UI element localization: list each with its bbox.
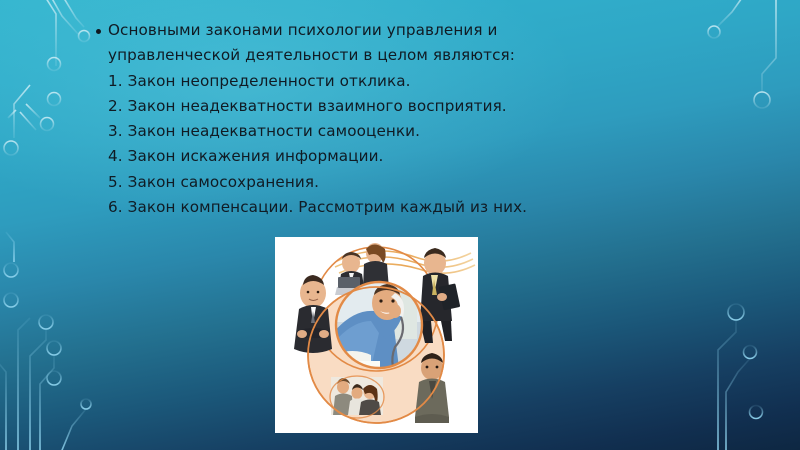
text-line: 3. Закон неадекватности самооценки. (108, 119, 696, 144)
person-three-colleagues-meeting (331, 377, 383, 415)
bullet-dot-icon (96, 29, 101, 34)
collage-graphic (275, 237, 478, 433)
text-line: 6. Закон компенсации. Рассмотрим каждый … (108, 195, 696, 220)
slide-text-block: Основными законами психологии управления… (96, 18, 696, 220)
presentation-slide: Основными законами психологии управления… (0, 0, 800, 450)
text-line: 4. Закон искажения информации. (108, 144, 696, 169)
business-people-collage-image (275, 237, 478, 433)
text-line: 1. Закон неопределенности отклика. (108, 69, 696, 94)
text-line: управленческой деятельности в целом явля… (108, 43, 696, 68)
lead-line-text: Основными законами психологии управления… (108, 18, 497, 43)
continuation-lines: управленческой деятельности в целом явля… (108, 43, 696, 220)
text-line: 5. Закон самосохранения. (108, 170, 696, 195)
bullet-item-lead: Основными законами психологии управления… (96, 18, 696, 43)
text-line: 2. Закон неадекватности взаимного воспри… (108, 94, 696, 119)
